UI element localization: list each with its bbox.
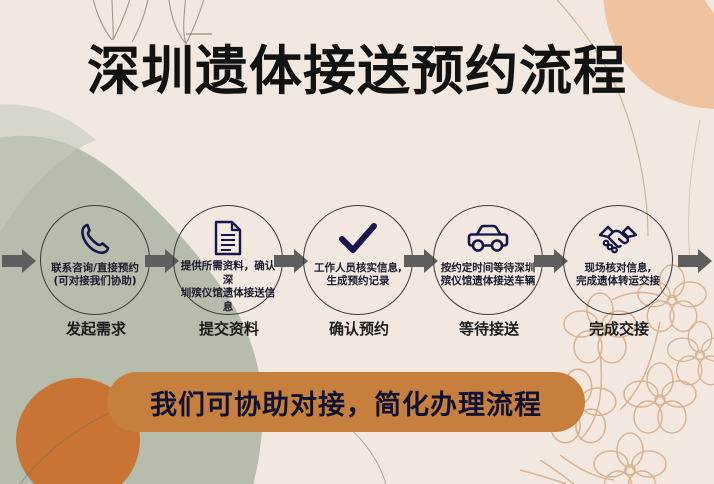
document-icon [213, 219, 243, 257]
flow-step-2-label: 提交资料 [163, 318, 295, 339]
cta-banner: 我们可协助对接，简化办理流程 [107, 372, 585, 432]
flow-step-2: 提供所需资料，确认深 圳殡仪馆遗体接送信息 提交资料 [173, 205, 285, 330]
page-title: 深圳遗体接送预约流程 [0, 44, 714, 100]
phone-icon [79, 219, 111, 259]
flow-step-3-label: 确认预约 [293, 318, 425, 339]
flow-step-5-label: 完成交接 [553, 318, 685, 339]
flow-step-4: 按约定时间等待深圳 殡仪馆遗体接送车辆 等待接送 [433, 205, 545, 330]
handshake-icon [596, 219, 640, 259]
flow-step-2-description: 提供所需资料，确认深 圳殡仪馆遗体接送信息 [176, 260, 280, 314]
car-icon [466, 219, 510, 259]
flow-step-3: 工作人员核实信息, 生成预约记录 确认预约 [303, 205, 415, 330]
flow-step-1: 联系咨询/直接预约 (可对接我们协助) 发起需求 [40, 205, 152, 330]
flow-step-3-circle: 工作人员核实信息, 生成预约记录 [303, 205, 413, 315]
poster-canvas: 深圳遗体接送预约流程 联系咨询/直接预约 (可对接我们协助) 发起需求 [0, 0, 714, 484]
flow-step-4-label: 等待接送 [423, 318, 555, 339]
flow-arrow-icon [678, 248, 712, 274]
flow-step-1-description: 联系咨询/直接预约 (可对接我们协助) [43, 262, 147, 289]
flow-step-5: 现场核对信息, 完成遗体转运交接 完成交接 [563, 205, 675, 330]
flow-step-5-circle: 现场核对信息, 完成遗体转运交接 [563, 205, 673, 315]
checkmark-icon [339, 219, 377, 259]
flow-step-5-description: 现场核对信息, 完成遗体转运交接 [566, 262, 670, 289]
process-flow: 联系咨询/直接预约 (可对接我们协助) 发起需求 [0, 205, 714, 330]
cta-banner-text: 我们可协助对接，简化办理流程 [150, 383, 542, 422]
flow-step-4-circle: 按约定时间等待深圳 殡仪馆遗体接送车辆 [433, 205, 543, 315]
flow-step-3-description: 工作人员核实信息, 生成预约记录 [306, 262, 410, 289]
flow-step-1-circle: 联系咨询/直接预约 (可对接我们协助) [40, 205, 150, 315]
flow-step-4-description: 按约定时间等待深圳 殡仪馆遗体接送车辆 [436, 262, 540, 289]
flow-step-2-circle: 提供所需资料，确认深 圳殡仪馆遗体接送信息 [173, 205, 283, 315]
flow-step-1-label: 发起需求 [30, 318, 162, 339]
flow-arrow-icon [2, 248, 36, 274]
